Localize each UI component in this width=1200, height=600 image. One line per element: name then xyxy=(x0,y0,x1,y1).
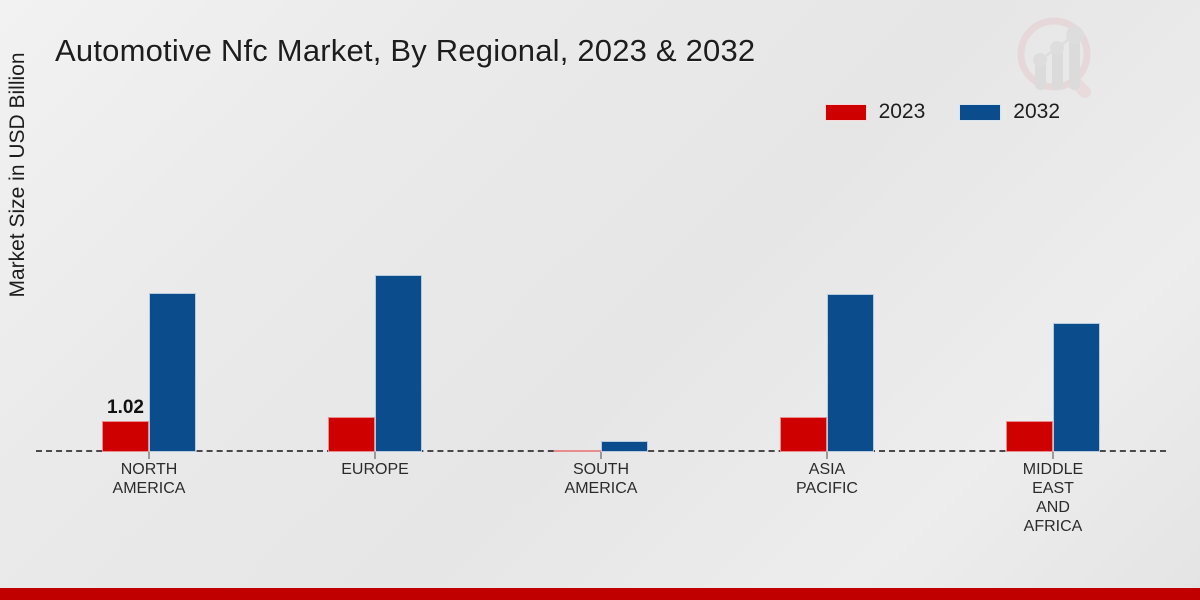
x-axis-tick xyxy=(375,452,376,459)
x-axis-tick xyxy=(149,452,150,459)
bar-2023[interactable] xyxy=(328,417,375,452)
bar-group: ASIAPACIFIC xyxy=(714,140,940,452)
bar-2023[interactable] xyxy=(1006,421,1053,452)
legend-swatch-2023-icon xyxy=(825,104,867,121)
legend-swatch-2032-icon xyxy=(959,104,1001,121)
plot-area: 1.02NORTHAMERICAEUROPESOUTHAMERICAASIAPA… xyxy=(36,140,1166,452)
bar-2032[interactable] xyxy=(601,441,648,452)
x-axis-category-label: SOUTHAMERICA xyxy=(565,461,638,499)
legend-item-2023[interactable]: 2023 xyxy=(825,100,926,124)
bar-2023[interactable] xyxy=(554,450,601,452)
bar-2023[interactable] xyxy=(780,417,827,452)
bar-pair xyxy=(554,140,648,452)
bar-pair xyxy=(328,140,422,452)
bar-pair xyxy=(780,140,874,452)
bar-group: SOUTHAMERICA xyxy=(488,140,714,452)
chart-canvas: Automotive Nfc Market, By Regional, 2023… xyxy=(0,0,1200,600)
x-axis-tick xyxy=(827,452,828,459)
x-axis-category-label: EUROPE xyxy=(341,461,409,480)
bar-2032[interactable] xyxy=(149,293,196,452)
bar-2032[interactable] xyxy=(827,294,874,452)
bar-group: EUROPE xyxy=(262,140,488,452)
bar-pair xyxy=(1006,140,1100,452)
x-axis-tick xyxy=(1053,452,1054,459)
bar-groups: 1.02NORTHAMERICAEUROPESOUTHAMERICAASIAPA… xyxy=(36,140,1166,452)
legend-item-2032[interactable]: 2032 xyxy=(959,100,1060,124)
chart-legend: 2023 2032 xyxy=(825,100,1060,124)
bar-2023[interactable]: 1.02 xyxy=(102,421,149,452)
footer-accent-bar xyxy=(0,588,1200,600)
x-axis-category-label: NORTHAMERICA xyxy=(113,461,186,499)
bar-2032[interactable] xyxy=(375,275,422,452)
page-title: Automotive Nfc Market, By Regional, 2023… xyxy=(55,33,755,69)
bar-value-label: 1.02 xyxy=(107,397,144,419)
x-axis-category-label: MIDDLEEASTANDAFRICA xyxy=(1023,461,1083,537)
legend-label-2032: 2032 xyxy=(1013,100,1060,124)
x-axis-tick xyxy=(601,452,602,459)
y-axis-label: Market Size in USD Billion xyxy=(6,10,30,340)
bar-2032[interactable] xyxy=(1053,323,1100,452)
legend-label-2023: 2023 xyxy=(879,100,926,124)
bar-group: 1.02NORTHAMERICA xyxy=(36,140,262,452)
magnifier-bar-chart-logo-icon xyxy=(1008,8,1108,108)
x-axis-category-label: ASIAPACIFIC xyxy=(796,461,858,499)
bar-pair: 1.02 xyxy=(102,140,196,452)
bar-group: MIDDLEEASTANDAFRICA xyxy=(940,140,1166,452)
